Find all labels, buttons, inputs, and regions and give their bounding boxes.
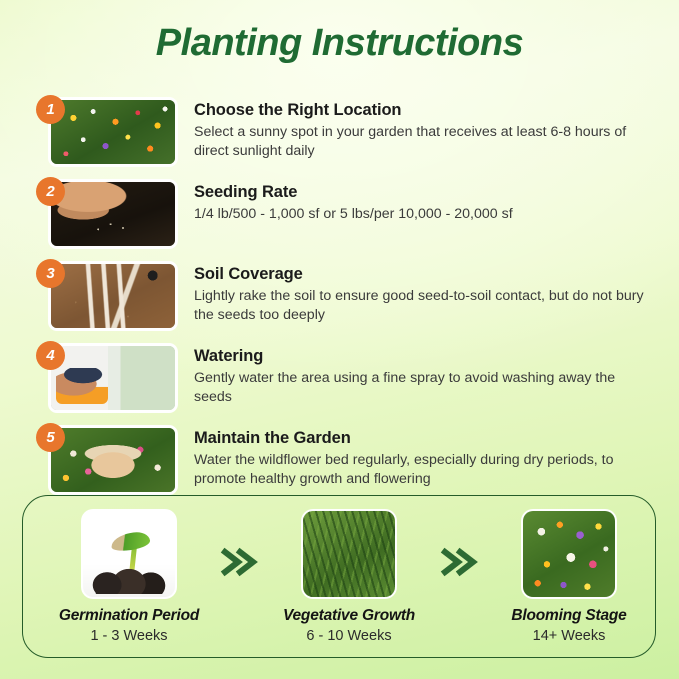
- step-text: Seeding Rate 1/4 lb/500 - 1,000 sf or 5 …: [194, 177, 656, 224]
- step-item: 4 Watering Gently water the area using a…: [36, 341, 656, 416]
- timeline-stage-germination: Germination Period 1 - 3 Weeks: [45, 509, 213, 644]
- green-foliage-photo: [301, 509, 397, 599]
- step-text: Watering Gently water the area using a f…: [194, 341, 656, 407]
- stage-duration: 1 - 3 Weeks: [45, 628, 213, 644]
- woman-in-flower-bed-art: [51, 428, 175, 492]
- page-title: Planting Instructions: [0, 22, 679, 65]
- step-item: 5 Maintain the Garden Water the wildflow…: [36, 423, 656, 498]
- step-thumbnail-wrap: 3: [36, 259, 178, 334]
- step-text: Choose the Right Location Select a sunny…: [194, 95, 656, 161]
- stage-duration: 6 - 10 Weeks: [265, 628, 433, 644]
- step-item: 2 Seeding Rate 1/4 lb/500 - 1,000 sf or …: [36, 177, 656, 252]
- planting-instructions-infographic: Planting Instructions 1 Choose the Right…: [0, 0, 679, 679]
- stage-label: Germination Period: [45, 607, 213, 625]
- step-description: Lightly rake the soil to ensure good see…: [194, 287, 649, 325]
- step-description: 1/4 lb/500 - 1,000 sf or 5 lbs/per 10,00…: [194, 205, 649, 224]
- step-number-badge: 1: [36, 95, 65, 124]
- hand-sowing-seeds-art: [51, 182, 175, 246]
- blooming-flowers-art: [523, 511, 615, 597]
- seedling-sprout-art: [83, 511, 175, 597]
- green-foliage-art: [303, 511, 395, 597]
- step-item: 3 Soil Coverage Lightly rake the soil to…: [36, 259, 656, 334]
- hand-sowing-seeds-photo: [48, 179, 178, 249]
- timeline-stage-vegetative: Vegetative Growth 6 - 10 Weeks: [265, 509, 433, 644]
- step-title: Maintain the Garden: [194, 429, 656, 448]
- step-title: Choose the Right Location: [194, 101, 656, 120]
- woman-in-flower-bed-photo: [48, 425, 178, 495]
- blooming-flowers-photo: [521, 509, 617, 599]
- step-thumbnail-wrap: 1: [36, 95, 178, 170]
- step-item: 1 Choose the Right Location Select a sun…: [36, 95, 656, 170]
- step-thumbnail-wrap: 5: [36, 423, 178, 498]
- stage-label: Blooming Stage: [485, 607, 653, 625]
- step-number-badge: 2: [36, 177, 65, 206]
- rake-on-soil-art: [51, 264, 175, 328]
- sprout-leaf: [110, 531, 151, 553]
- step-description: Gently water the area using a fine spray…: [194, 369, 649, 407]
- growth-timeline: Germination Period 1 - 3 Weeks Vegetativ…: [22, 495, 656, 658]
- spray-bottle-watering-art: [51, 346, 175, 410]
- steps-list: 1 Choose the Right Location Select a sun…: [36, 95, 656, 505]
- stage-label: Vegetative Growth: [265, 607, 433, 625]
- step-title: Seeding Rate: [194, 183, 656, 202]
- wildflower-field-art: [51, 100, 175, 164]
- step-thumbnail-wrap: 2: [36, 177, 178, 252]
- step-description: Select a sunny spot in your garden that …: [194, 123, 649, 161]
- step-title: Soil Coverage: [194, 265, 656, 284]
- double-chevron-right-icon: [213, 547, 265, 577]
- spray-bottle-watering-photo: [48, 343, 178, 413]
- wildflower-field-photo: [48, 97, 178, 167]
- step-number-badge: 4: [36, 341, 65, 370]
- timeline-stage-blooming: Blooming Stage 14+ Weeks: [485, 509, 653, 644]
- step-number-badge: 5: [36, 423, 65, 452]
- seedling-sprout-photo: [81, 509, 177, 599]
- step-thumbnail-wrap: 4: [36, 341, 178, 416]
- stage-duration: 14+ Weeks: [485, 628, 653, 644]
- rake-on-soil-photo: [48, 261, 178, 331]
- step-text: Maintain the Garden Water the wildflower…: [194, 423, 656, 489]
- step-text: Soil Coverage Lightly rake the soil to e…: [194, 259, 656, 325]
- step-title: Watering: [194, 347, 656, 366]
- step-description: Water the wildflower bed regularly, espe…: [194, 451, 649, 489]
- step-number-badge: 3: [36, 259, 65, 288]
- double-chevron-right-icon: [433, 547, 485, 577]
